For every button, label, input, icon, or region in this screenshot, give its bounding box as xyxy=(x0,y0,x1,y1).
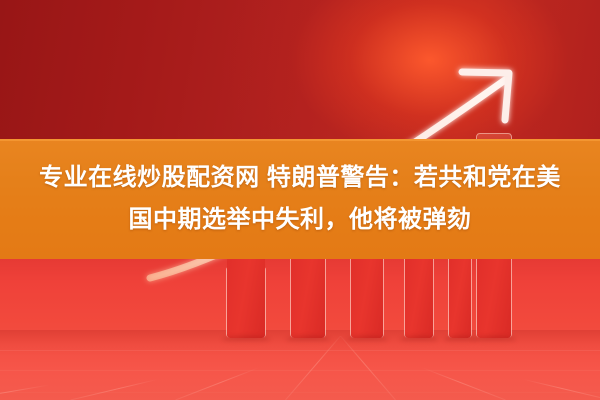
bar-6-shadow xyxy=(472,336,516,343)
title-line-2: 国中期选举中失利，他将被弹劾 xyxy=(129,199,472,241)
floor-grid-line xyxy=(70,379,158,400)
bar-4-shadow xyxy=(400,336,438,343)
promo-banner: 专业在线炒股配资网 特朗普警告：若共和党在美 国中期选举中失利，他将被弹劾 xyxy=(0,0,600,400)
bar-2-shadow xyxy=(286,336,330,343)
bar-1-body xyxy=(227,259,265,338)
bar-6-body xyxy=(477,259,511,338)
title-line-1: 专业在线炒股配资网 特朗普警告：若共和党在美 xyxy=(39,157,561,199)
bar-3-body xyxy=(351,259,383,338)
floor-grid-line xyxy=(175,367,259,400)
floor-grid-line xyxy=(421,367,505,400)
bar-4-body xyxy=(405,259,433,338)
bar-5-body xyxy=(449,259,471,338)
floor-grid-line xyxy=(285,336,344,400)
bar-1-shadow xyxy=(222,336,270,343)
floor-grid-line xyxy=(336,336,395,400)
floor-grid-line xyxy=(0,350,600,351)
bar-2-body xyxy=(291,259,325,338)
floor-grid-line xyxy=(0,392,600,393)
floor-grid-line xyxy=(523,379,600,400)
page-title: 专业在线炒股配资网 特朗普警告：若共和党在美 国中期选举中失利，他将被弹劾 xyxy=(0,139,600,259)
floor-grid-line xyxy=(0,370,600,371)
bar-3-shadow xyxy=(346,336,388,343)
perspective-floor-grid xyxy=(0,336,600,400)
